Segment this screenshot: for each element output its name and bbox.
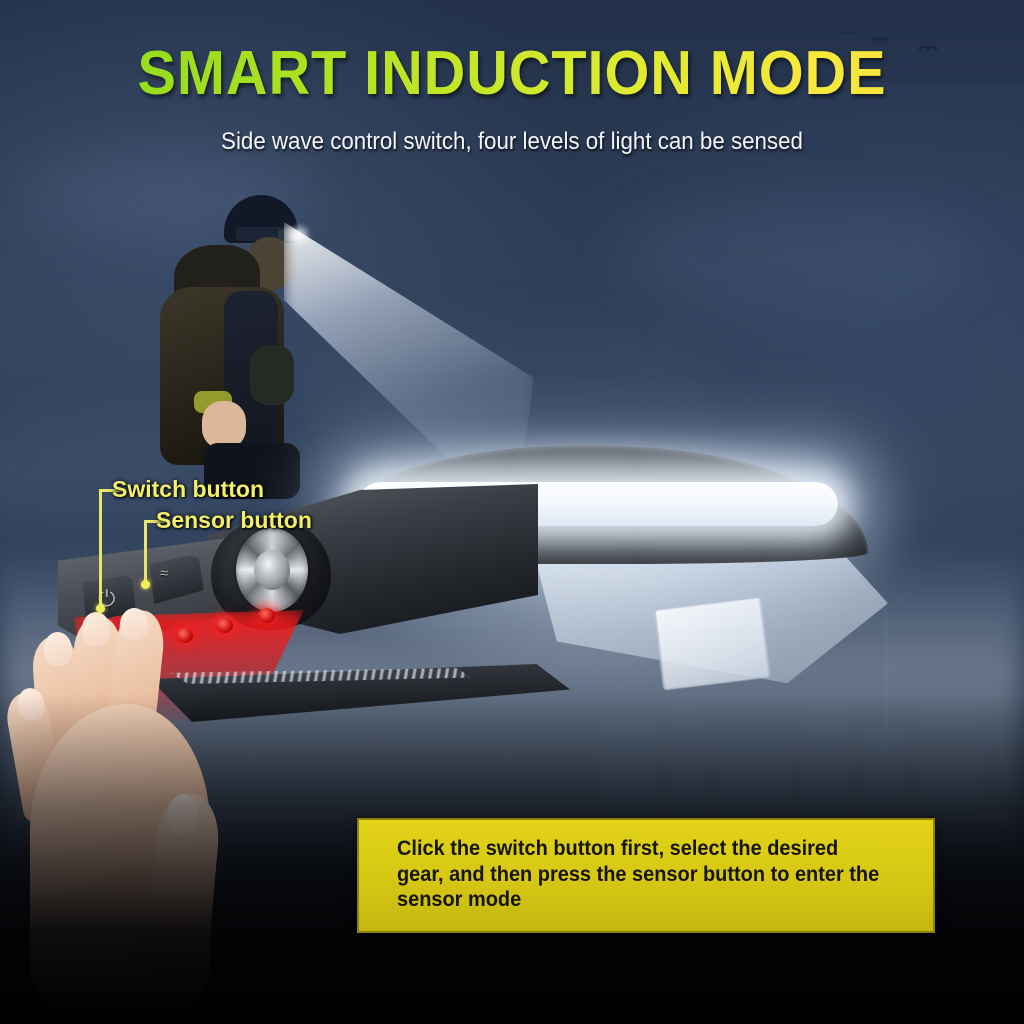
callout-leader-sensor-vertical [144,520,147,585]
page-subtitle: Side wave control switch, four levels of… [36,128,988,156]
page-title: SMART INDUCTION MODE [36,38,988,109]
callout-leader-switch-vertical [99,489,102,609]
instruction-caption-box: Click the switch button first, select th… [357,818,935,933]
callout-label-sensor-button: Sensor button [156,507,312,534]
callout-endpoint-switch [96,604,105,613]
promo-image-canvas: ⏻ ≈ Switch button Sensor button SMART IN… [0,0,1024,1024]
strap-buckle [653,596,770,691]
cloud [620,200,980,310]
callout-label-switch-button: Switch button [112,476,264,503]
callout-endpoint-sensor [141,580,150,589]
headlamp-light-source [286,224,312,246]
bird-icon [842,30,854,37]
wave-sensor-icon: ≈ [160,566,167,581]
spotlight-lens [254,550,290,590]
instruction-caption-text: Click the switch button first, select th… [397,836,887,913]
